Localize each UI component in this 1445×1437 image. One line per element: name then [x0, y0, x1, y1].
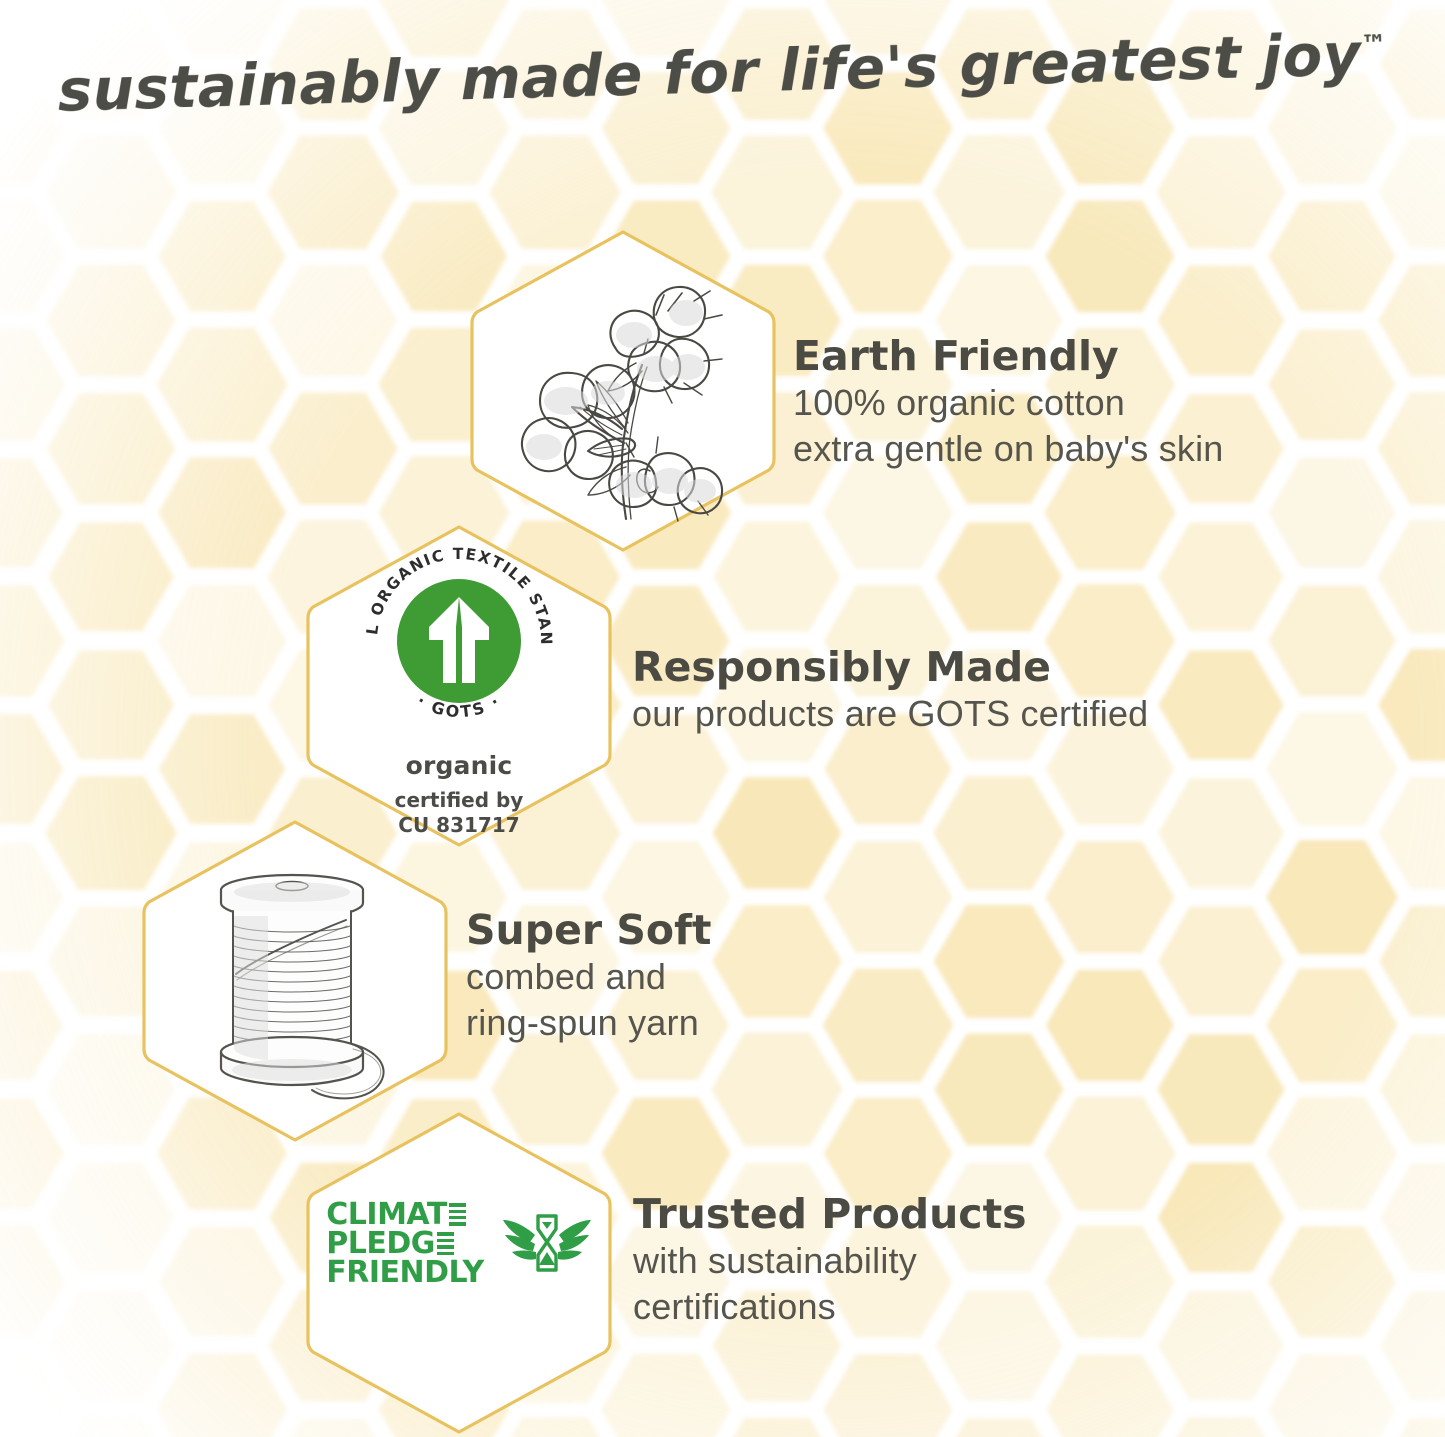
honeycomb-cell — [934, 1034, 1063, 1146]
honeycomb-cell — [1269, 1355, 1396, 1437]
honeycomb-cell — [1158, 1163, 1285, 1273]
honeycomb-cell — [1379, 777, 1445, 889]
honeycomb-cell — [0, 1226, 65, 1338]
honeycomb-cell — [712, 1418, 842, 1437]
honeycomb-cell — [1266, 840, 1398, 954]
honeycomb-cell — [713, 777, 842, 889]
honeycomb-cell — [934, 905, 1065, 1018]
cpf-bars-e2 — [437, 1232, 454, 1255]
honeycomb-cell — [1266, 969, 1397, 1083]
honeycomb-cell — [1266, 712, 1397, 826]
honeycomb-cell — [0, 971, 63, 1080]
honeycomb-cell — [1158, 1291, 1284, 1400]
thread-spool-icon — [138, 816, 452, 1146]
honeycomb-cell — [159, 714, 286, 824]
hex-card-responsibly-made: GLOBAL ORGANIC TEXTILE STANDARD · GOTS ·… — [302, 521, 616, 851]
honeycomb-cell — [933, 776, 1064, 890]
honeycomb-cell — [47, 265, 176, 377]
trademark-symbol: ™ — [1360, 30, 1387, 61]
promo-infographic: sustainably made for life's greatest joy… — [0, 0, 1445, 1437]
honeycomb-cell — [48, 523, 173, 632]
feature-desc-line: certifications — [633, 1284, 1027, 1330]
cpf-line-3: FRIENDLY — [326, 1258, 483, 1287]
cpf-line-1: CLIMAT — [326, 1200, 447, 1229]
honeycomb-cell — [0, 1355, 64, 1437]
honeycomb-cell — [1045, 841, 1174, 953]
gots-logo: GLOBAL ORGANIC TEXTILE STANDARD · GOTS ·… — [302, 521, 616, 851]
feature-title: Earth Friendly — [793, 334, 1224, 380]
headline-text: sustainably made for life's greatest joy — [57, 20, 1362, 124]
honeycomb-cell — [936, 522, 1062, 631]
honeycomb-cell — [159, 1228, 284, 1336]
honeycomb-cell — [823, 456, 953, 569]
honeycomb-cell — [267, 135, 398, 249]
honeycomb-cell — [1268, 329, 1395, 439]
honeycomb-cell — [824, 842, 953, 953]
honeycomb-cell — [158, 457, 286, 568]
cotton-branch-icon — [466, 226, 780, 556]
honeycomb-cell — [1268, 1226, 1396, 1337]
honeycomb-cell — [0, 714, 63, 824]
feature-text-trusted-products: Trusted Products with sustainability cer… — [633, 1192, 1027, 1330]
honeycomb-cell — [0, 0, 64, 56]
hex-card-earth-friendly — [466, 226, 780, 556]
honeycomb-cell — [0, 842, 63, 952]
honeycomb-cell — [158, 585, 287, 697]
honeycomb-cell — [1268, 201, 1395, 311]
hex-card-trusted-products: CLIMAT PLEDG FRIENDLY — [302, 1108, 616, 1437]
feature-desc-line: extra gentle on baby's skin — [793, 426, 1224, 472]
honeycomb-cell — [933, 135, 1065, 249]
honeycomb-cell — [823, 969, 954, 1082]
feature-text-super-soft: Super Soft combed and ring-spun yarn — [466, 908, 712, 1046]
page-title: sustainably made for life's greatest joy… — [0, 18, 1445, 126]
feature-title: Trusted Products — [633, 1192, 1027, 1238]
honeycomb-cell — [1380, 1291, 1445, 1400]
gots-seal-icon: GLOBAL ORGANIC TEXTILE STANDARD · GOTS · — [359, 541, 559, 741]
honeycomb-cell — [1378, 392, 1445, 505]
honeycomb-cell — [0, 328, 65, 441]
honeycomb-cell — [1158, 907, 1284, 1016]
honeycomb-cell — [1378, 649, 1445, 761]
honeycomb-cell — [158, 201, 285, 311]
honeycomb-cell — [0, 1098, 64, 1208]
honeycomb-cell — [1269, 458, 1396, 568]
feature-desc-line: combed and — [466, 954, 712, 1000]
honeycomb-cell — [157, 1354, 287, 1437]
feature-title: Super Soft — [466, 908, 712, 954]
honeycomb-cell — [48, 650, 174, 759]
honeycomb-cell — [823, 200, 953, 313]
honeycomb-cell — [1158, 651, 1283, 760]
feature-text-responsibly-made: Responsibly Made our products are GOTS c… — [632, 645, 1148, 737]
honeycomb-cell — [1378, 136, 1445, 248]
honeycomb-cell — [268, 393, 397, 505]
honeycomb-cell — [158, 0, 287, 56]
honeycomb-cell — [1046, 970, 1174, 1081]
honeycomb-cell — [824, 1354, 953, 1437]
honeycomb-cell — [1156, 136, 1285, 248]
feature-desc-line: our products are GOTS certified — [632, 691, 1148, 737]
honeycomb-cell — [1268, 586, 1396, 697]
winged-hourglass-icon — [502, 1207, 592, 1281]
honeycomb-cell — [1267, 1097, 1398, 1210]
honeycomb-cell — [0, 585, 64, 697]
honeycomb-cell — [711, 1033, 842, 1147]
cpf-bars-e1 — [449, 1203, 466, 1226]
honeycomb-cell — [1045, 1226, 1175, 1338]
honeycomb-cell — [935, 1419, 1063, 1437]
honeycomb-cell — [1379, 1418, 1445, 1437]
honeycomb-cell — [1377, 520, 1445, 634]
honeycomb-cell — [712, 905, 842, 1017]
honeycomb-cell — [46, 136, 177, 250]
honeycomb-cell — [156, 328, 287, 442]
honeycomb-cell — [1044, 456, 1176, 570]
feature-desc-line: ring-spun yarn — [466, 1000, 712, 1046]
honeycomb-cell — [1156, 1417, 1287, 1437]
honeycomb-cell — [0, 200, 65, 313]
feature-title: Responsibly Made — [632, 645, 1148, 691]
honeycomb-cell — [1044, 1097, 1175, 1211]
gots-caption-certified-by: certified by — [395, 788, 524, 813]
cpf-line-2: PLEDG — [326, 1229, 435, 1258]
honeycomb-cell — [1379, 906, 1445, 1017]
honeycomb-cell — [1380, 1163, 1445, 1272]
honeycomb-cell — [1380, 1035, 1445, 1144]
feature-desc-line: with sustainability — [633, 1238, 1027, 1284]
honeycomb-cell — [48, 1291, 174, 1400]
honeycomb-cell — [47, 393, 175, 504]
honeycomb-cell — [0, 458, 63, 567]
honeycomb-cell — [1378, 264, 1445, 376]
feature-text-earth-friendly: Earth Friendly 100% organic cotton extra… — [793, 334, 1224, 472]
honeycomb-cell — [1046, 1355, 1173, 1437]
hex-card-super-soft — [138, 816, 452, 1146]
honeycomb-cell — [47, 1419, 175, 1437]
honeycomb-cell — [1158, 523, 1283, 632]
gots-caption-organic: organic — [406, 751, 513, 780]
honeycomb-cell — [1158, 779, 1284, 888]
honeycomb-cell — [48, 1163, 174, 1272]
honeycomb-cell — [601, 1354, 730, 1437]
honeycomb-cell — [1046, 200, 1175, 312]
feature-desc-line: 100% organic cotton — [793, 380, 1224, 426]
honeycomb-cell — [269, 265, 397, 376]
climate-pledge-friendly-logo: CLIMAT PLEDG FRIENDLY — [302, 1108, 616, 1437]
honeycomb-cell — [1157, 1034, 1284, 1144]
